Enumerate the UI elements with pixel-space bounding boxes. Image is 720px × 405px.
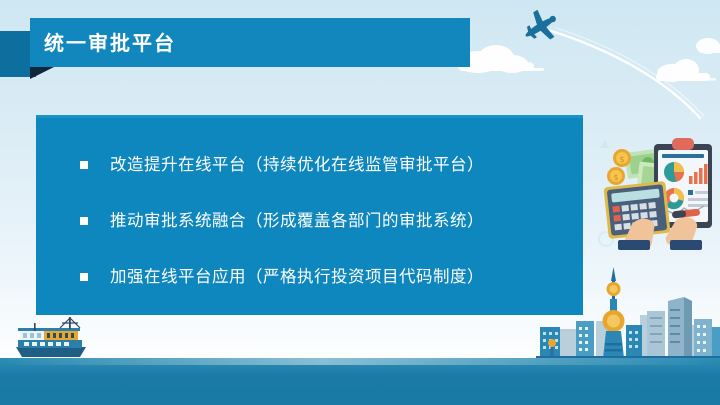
slide-canvas: 统一审批平台 改造提升在线平台（持续优化在线监管审批平台） 推动审批系统融合（形… [0, 0, 720, 405]
cloud-right-small [656, 59, 716, 82]
airplane-icon [517, 4, 564, 50]
list-item: 推动审批系统融合（形成覆盖各部门的审批系统） [36, 193, 583, 249]
water-band [0, 358, 720, 405]
finance-analysis-illustration: $ $ [592, 112, 718, 270]
contrail-line [548, 30, 700, 118]
cloud-right-top [696, 38, 720, 54]
page-title: 统一审批平台 [44, 33, 176, 53]
ferry-boat-icon [16, 317, 86, 357]
ribbon-fold-triangle [30, 65, 58, 79]
water-shimmer [0, 358, 720, 365]
svg-text:$: $ [619, 155, 624, 164]
panel-top-highlight [36, 115, 583, 118]
pie-chart-icon [664, 162, 684, 182]
square-bullet-icon [80, 217, 88, 225]
ribbon-banner: 统一审批平台 [30, 18, 470, 67]
title-ribbon: 统一审批平台 [0, 15, 470, 77]
bullet-text: 推动审批系统融合（形成覆盖各部门的审批系统） [110, 210, 484, 231]
bullet-text: 改造提升在线平台（持续优化在线监管审批平台） [110, 154, 484, 175]
oriental-pearl-tower [603, 267, 625, 358]
shanghai-skyline [536, 267, 720, 360]
svg-text:$: $ [613, 173, 618, 182]
list-item: 改造提升在线平台（持续优化在线监管审批平台） [36, 137, 583, 193]
square-bullet-icon [80, 161, 88, 169]
